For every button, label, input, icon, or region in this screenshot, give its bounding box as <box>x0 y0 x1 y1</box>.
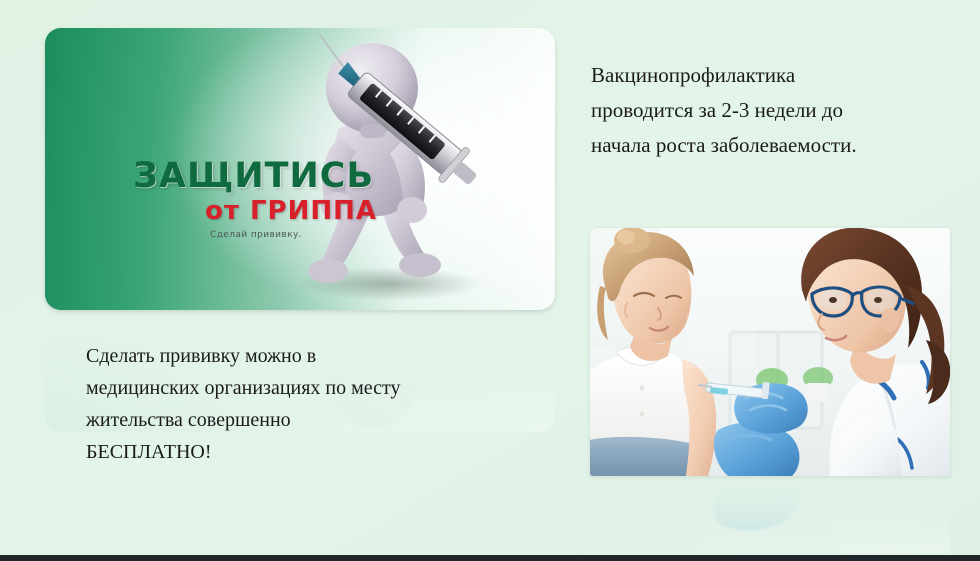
child-button <box>639 385 644 390</box>
photo-reflection <box>590 477 950 555</box>
bottom-bar <box>0 555 980 561</box>
left-text-line-1: Сделать прививку можно в <box>86 340 506 372</box>
photo-reflection-illustration <box>590 477 950 555</box>
slide-canvas: ЗАЩИТИСЬ от ГРИППА Сделай прививку. Вакц… <box>0 0 980 561</box>
child-button <box>639 411 644 416</box>
nurse-eye-left <box>829 297 837 303</box>
child-jeans <box>590 437 698 476</box>
poster-headline-main: ЗАЩИТИСЬ <box>133 156 374 196</box>
left-text-line-3: жительства совершенно <box>86 404 506 436</box>
nurse-ear <box>881 308 899 332</box>
nurse-eye-right <box>874 297 882 303</box>
right-text-line-2: проводится за 2-3 недели до <box>591 93 941 128</box>
left-text-line-4: БЕСПЛАТНО! <box>86 436 506 468</box>
figure-left-foot <box>308 259 348 283</box>
child-hair-bun-highlight <box>617 230 635 244</box>
figure-right-hand <box>397 197 427 223</box>
right-text-line-1: Вакцинопрофилактика <box>591 58 941 93</box>
right-text-line-3: начала роста заболеваемости. <box>591 128 941 163</box>
photo-container <box>590 228 950 476</box>
photo-highlight <box>686 314 756 368</box>
left-text-block: Сделать прививку можно в медицинских орг… <box>86 340 506 468</box>
photo-pot-right <box>806 383 830 402</box>
poster-headline-sub: от ГРИППА <box>205 196 377 226</box>
poster-container: ЗАЩИТИСЬ от ГРИППА Сделай прививку. <box>45 28 555 310</box>
flu-vaccination-poster: ЗАЩИТИСЬ от ГРИППА Сделай прививку. <box>45 28 555 310</box>
figure-neck <box>360 124 386 138</box>
photo-illustration <box>590 228 950 476</box>
left-text-line-2: медицинских организациях по месту <box>86 372 506 404</box>
figure-right-foot <box>399 253 441 277</box>
right-text-block: Вакцинопрофилактика проводится за 2-3 не… <box>591 58 941 163</box>
poster-tagline: Сделай прививку. <box>210 230 302 240</box>
nurse-vaccinating-child-photo <box>590 228 950 476</box>
